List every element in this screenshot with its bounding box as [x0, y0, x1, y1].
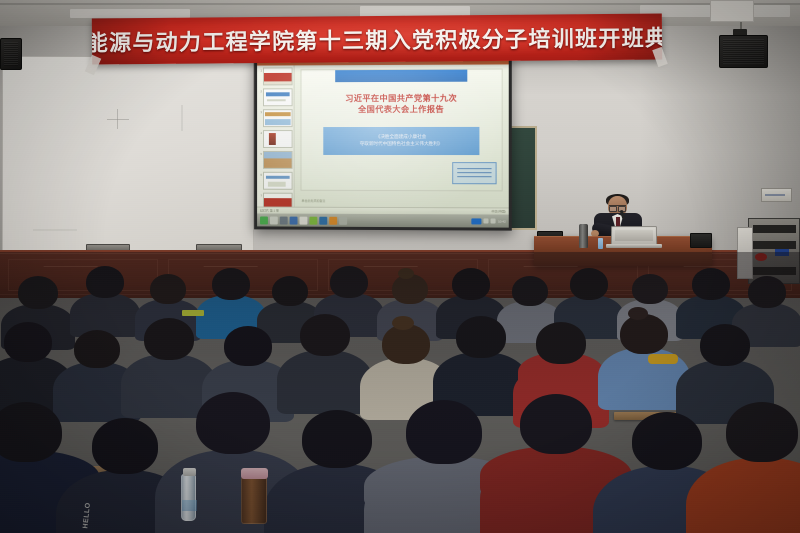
thumb-number: 7: [258, 193, 262, 199]
ime-icon[interactable]: [472, 218, 482, 224]
thermos-flask-icon: [241, 476, 267, 524]
taskbar-clock[interactable]: 10:42: [498, 219, 506, 223]
search-icon[interactable]: [270, 216, 278, 224]
slide-subtitle: 《决胜全面建成小康社会 夺取新时代中国特色社会主义伟大胜利》: [323, 127, 479, 155]
audience: HELLO: [0, 252, 800, 533]
slide-thumbnail[interactable]: 1: [258, 67, 293, 86]
projection-surface: 1 2 3 4 5: [257, 57, 509, 227]
water-bottle-icon: [181, 474, 196, 521]
thumb-number: 3: [258, 109, 262, 115]
banner-text: 新能源与动力工程学院第十三期入党积极分子培训班开班典礼: [92, 20, 662, 57]
lanyard-icon: [182, 310, 204, 316]
powerpoint-window[interactable]: 1 2 3 4 5: [257, 57, 509, 227]
laptop-icon: [611, 226, 657, 246]
browser-icon[interactable]: [290, 216, 298, 224]
lecture-hall-photo: 1 2 3 4 5: [0, 0, 800, 533]
language-indicator[interactable]: 中文(中国): [492, 209, 506, 213]
thermos-icon: [579, 224, 588, 248]
slide-stage: 习近平在中国共产党第十九次 全国代表大会上作报告 《决胜全面建成小康社会 夺取新…: [295, 64, 509, 207]
thumb-number: 2: [258, 88, 262, 94]
slide-top-band: [335, 70, 467, 83]
thumb-number: 5: [258, 151, 262, 157]
slide-thumbnail[interactable]: 3: [258, 109, 293, 128]
windows-taskbar[interactable]: 10:42: [257, 213, 509, 227]
projection-screen: 1 2 3 4 5: [254, 54, 512, 230]
glasses-icon: [609, 205, 626, 209]
document-icon[interactable]: [300, 216, 308, 224]
stage-chair: [690, 233, 712, 248]
slide-counter: 幻灯片 第 1 张: [260, 209, 279, 213]
wall-speaker-left-icon: [0, 38, 22, 70]
ceremony-banner: 新能源与动力工程学院第十三期入党积极分子培训班开班典礼: [92, 14, 662, 65]
slide-thumbnail[interactable]: 2: [258, 88, 293, 107]
ceiling-vent: [710, 0, 754, 22]
slide-subtitle-line1: 《决胜全面建成小康社会: [327, 134, 475, 141]
antivirus-icon[interactable]: [309, 216, 317, 224]
slide-subtitle-line2: 夺取新时代中国特色社会主义伟大胜利》: [327, 141, 475, 148]
slide-thumbnail[interactable]: 5: [258, 151, 293, 170]
thumb-number: 1: [258, 68, 262, 74]
current-slide[interactable]: 习近平在中国共产党第十九次 全国代表大会上作报告 《决胜全面建成小康社会 夺取新…: [301, 68, 503, 191]
player-icon[interactable]: [319, 216, 327, 224]
podium-bottle-icon: [598, 238, 603, 249]
slide-thumbnail[interactable]: 4: [258, 130, 293, 149]
slide-thumbnail[interactable]: 7: [258, 193, 293, 207]
slide-thumbnail-panel[interactable]: 1 2 3 4 5: [257, 65, 294, 206]
slide-title-line2: 全国代表大会上作报告: [345, 104, 457, 115]
thumb-number: 6: [258, 172, 262, 178]
slide-watermark: [452, 162, 496, 184]
laptop-base: [606, 244, 662, 248]
whiteboard: [2, 56, 254, 252]
wall-sign: [761, 188, 792, 202]
slide-title-line1: 习近平在中国共产党第十九次: [345, 93, 457, 104]
slide-thumbnail[interactable]: 6: [258, 172, 293, 191]
folder-icon[interactable]: [339, 216, 347, 224]
explorer-icon[interactable]: [280, 216, 288, 224]
network-icon[interactable]: [484, 218, 489, 223]
wall-speaker-right-icon: [719, 35, 768, 68]
slide-notes-placeholder[interactable]: 单击此处添加备注: [301, 199, 325, 203]
thumb-number: 4: [258, 130, 262, 136]
powerpoint-taskbar-icon[interactable]: [329, 216, 337, 224]
slide-title: 习近平在中国共产党第十九次 全国代表大会上作报告: [345, 93, 457, 115]
volume-icon[interactable]: [491, 218, 496, 223]
start-icon[interactable]: [260, 216, 268, 224]
